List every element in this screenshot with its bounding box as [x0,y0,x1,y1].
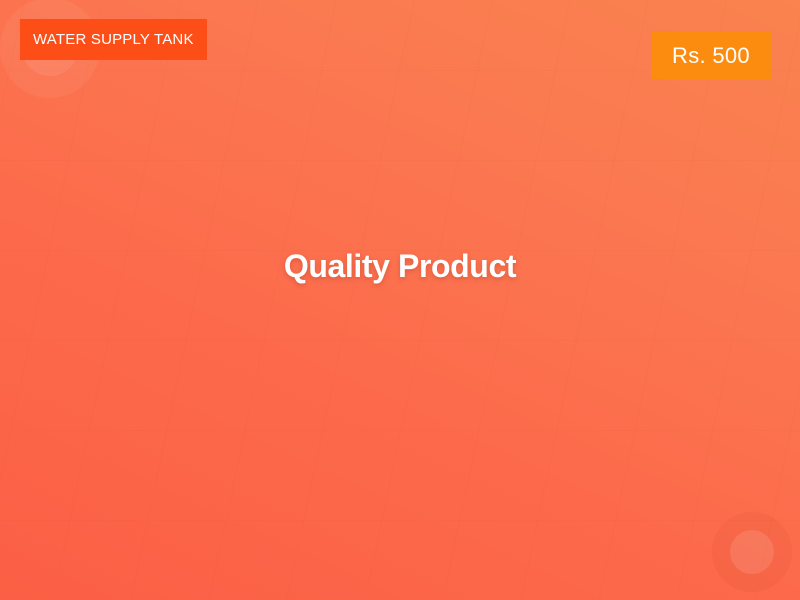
circle-bottom-right-inner-icon [730,530,774,574]
background-horizontal-pattern [0,0,800,600]
price-badge: Rs. 500 [651,32,771,79]
circle-bottom-right-outer-icon [712,512,792,592]
background-diagonal-pattern [0,0,800,600]
category-label: WATER SUPPLY TANK [20,19,207,60]
product-banner: WATER SUPPLY TANK Rs. 500 Quality Produc… [0,0,800,600]
headline-text: Quality Product [0,248,800,285]
